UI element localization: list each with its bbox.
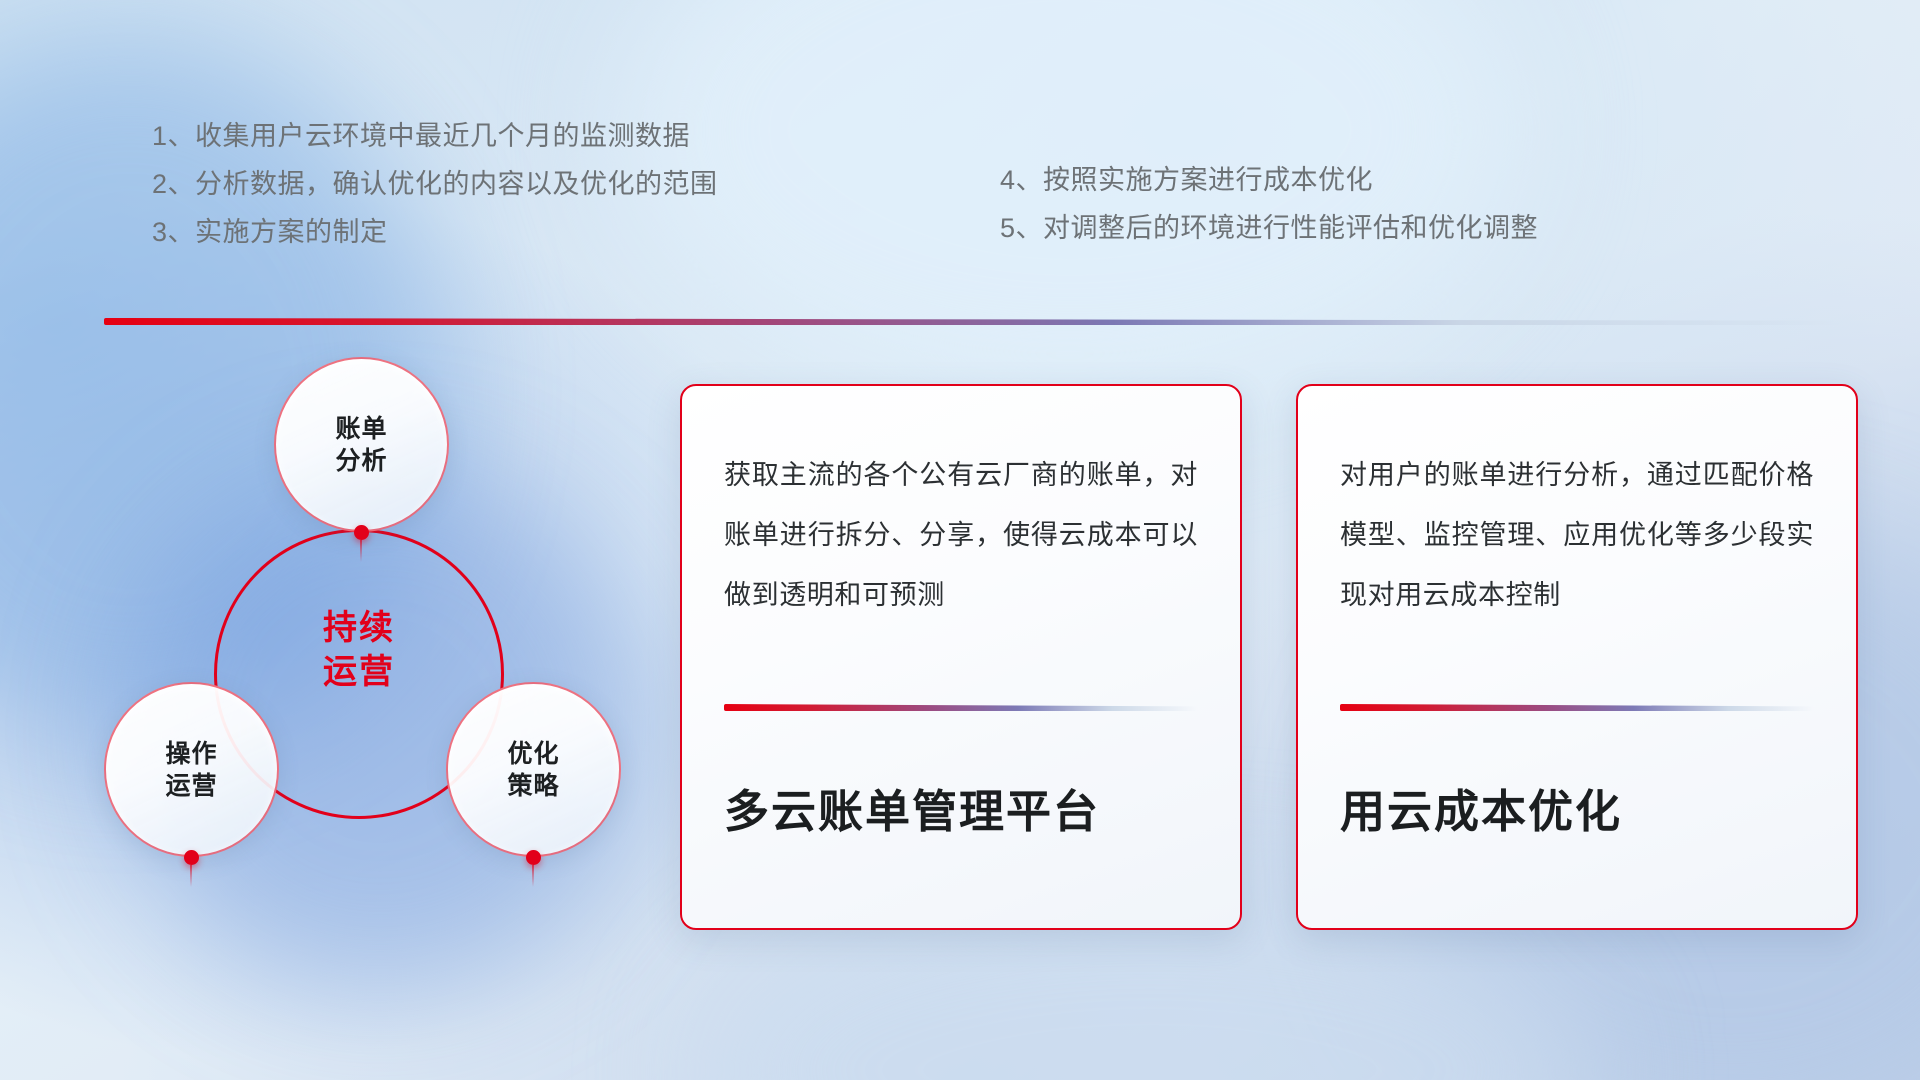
step-item-4: 4、按照实施方案进行成本优化: [1000, 156, 1538, 204]
card-multi-cloud-billing-platform-body: 获取主流的各个公有云厂商的账单，对账单进行拆分、分享，使得云成本可以做到透明和可…: [724, 446, 1198, 678]
step-item-4-label: 4、按照实施方案进行成本优化: [1000, 167, 1373, 194]
card-multi-cloud-billing-platform-divider: [724, 704, 1198, 711]
card-multi-cloud-billing-platform[interactable]: 获取主流的各个公有云厂商的账单，对账单进行拆分、分享，使得云成本可以做到透明和可…: [680, 384, 1242, 930]
card-multi-cloud-billing-platform-title: 多云账单管理平台: [724, 787, 1198, 837]
diagram-bubble-optimize-policy-line2: 策略: [507, 770, 559, 802]
card-cloud-cost-optimization-divider: [1340, 704, 1814, 711]
diagram-node-dot-top: [354, 525, 369, 540]
step-item-5-label: 5、对调整后的环境进行性能评估和优化调整: [1000, 215, 1538, 242]
diagram-node-dot-right: [526, 850, 541, 865]
slide-canvas: 1、收集用户云环境中最近几个月的监测数据 2、分析数据，确认优化的内容以及优化的…: [0, 0, 1920, 1080]
diagram-connector-top: [360, 540, 362, 562]
diagram-bubble-bill-analysis[interactable]: 账单 分析: [274, 357, 449, 532]
step-item-1: 1、收集用户云环境中最近几个月的监测数据: [152, 112, 718, 160]
diagram-bubble-ops-operation-line2: 运营: [165, 770, 217, 802]
diagram-bubble-optimize-policy-line1: 优化: [507, 738, 559, 770]
header-divider-rule: [104, 318, 1844, 325]
step-item-3: 3、实施方案的制定: [152, 208, 718, 256]
diagram-node-dot-left: [184, 850, 199, 865]
steps-list-left: 1、收集用户云环境中最近几个月的监测数据 2、分析数据，确认优化的内容以及优化的…: [152, 112, 718, 256]
card-cloud-cost-optimization-title: 用云成本优化: [1340, 787, 1814, 837]
step-item-2: 2、分析数据，确认优化的内容以及优化的范围: [152, 160, 718, 208]
diagram-bubble-ops-operation-line1: 操作: [165, 738, 217, 770]
diagram-bubble-optimize-policy[interactable]: 优化 策略: [446, 682, 621, 857]
diagram-bubble-ops-operation[interactable]: 操作 运营: [104, 682, 279, 857]
diagram-center-label: 持续 运营: [269, 607, 449, 694]
diagram-bubble-bill-analysis-line1: 账单: [335, 413, 387, 445]
step-item-2-label: 2、分析数据，确认优化的内容以及优化的范围: [152, 171, 718, 198]
diagram-connector-right: [532, 865, 534, 887]
step-item-1-label: 1、收集用户云环境中最近几个月的监测数据: [152, 123, 690, 150]
step-item-5: 5、对调整后的环境进行性能评估和优化调整: [1000, 204, 1538, 252]
card-cloud-cost-optimization-body: 对用户的账单进行分析，通过匹配价格模型、监控管理、应用优化等多少段实现对用云成本…: [1340, 446, 1814, 678]
steps-list-right: 4、按照实施方案进行成本优化 5、对调整后的环境进行性能评估和优化调整: [1000, 156, 1538, 252]
continuous-operations-diagram: 持续 运营 账单 分析 操作 运营 优化 策略: [96, 352, 656, 952]
card-cloud-cost-optimization[interactable]: 对用户的账单进行分析，通过匹配价格模型、监控管理、应用优化等多少段实现对用云成本…: [1296, 384, 1858, 930]
diagram-connector-left: [190, 865, 192, 887]
diagram-center-label-line1: 持续: [269, 607, 449, 651]
step-item-3-label: 3、实施方案的制定: [152, 219, 388, 246]
diagram-bubble-bill-analysis-line2: 分析: [335, 445, 387, 477]
diagram-center-label-line2: 运营: [269, 651, 449, 695]
